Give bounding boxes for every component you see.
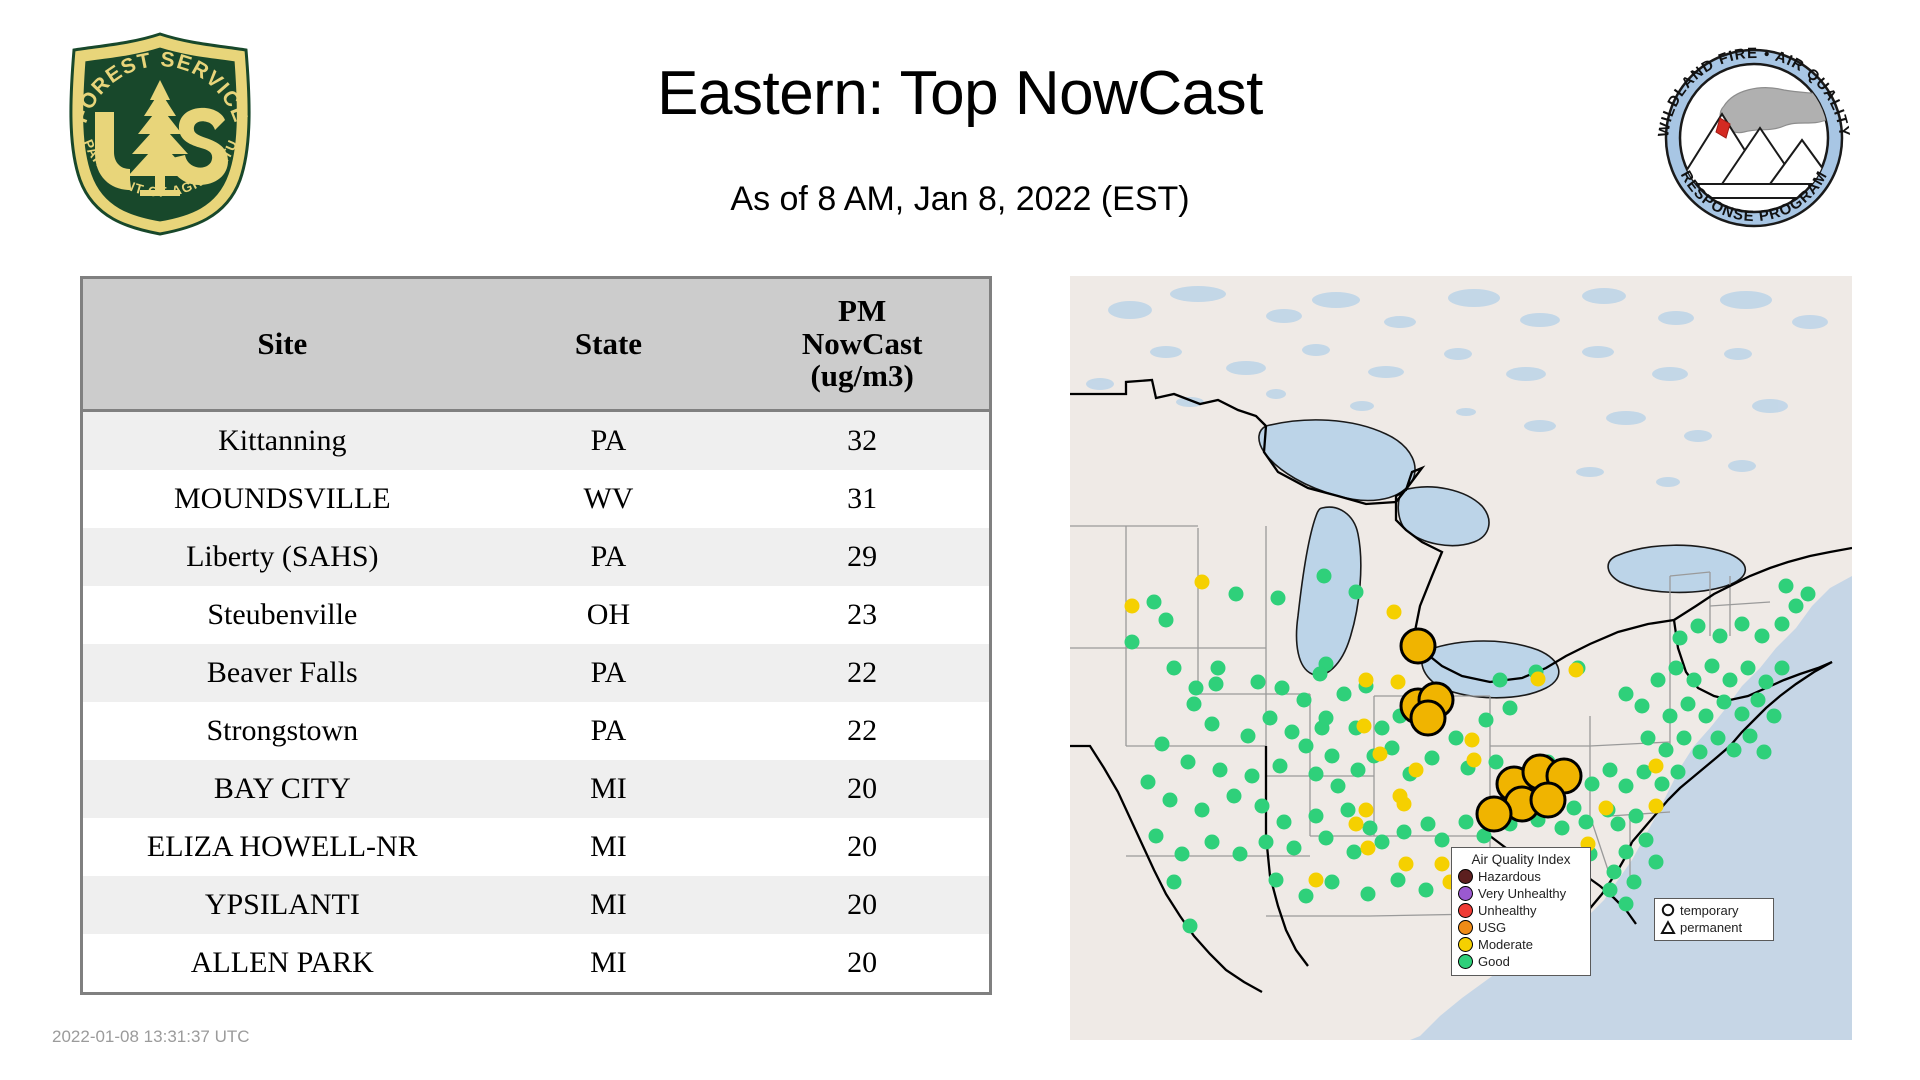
aqi-color-swatch-icon xyxy=(1458,886,1473,901)
aqi-legend: Air Quality Index HazardousVery Unhealth… xyxy=(1451,847,1591,976)
marker-legend-row-permanent: permanent xyxy=(1660,919,1768,936)
table-cell-state: PA xyxy=(482,702,736,760)
site-marker-allen-park xyxy=(1411,701,1445,735)
table-cell-pm: 32 xyxy=(735,411,989,471)
table-row[interactable]: KittanningPA32 xyxy=(83,411,989,471)
table-cell-site: Steubenville xyxy=(83,586,482,644)
aqi-color-swatch-icon xyxy=(1458,920,1473,935)
table-cell-site: MOUNDSVILLE xyxy=(83,470,482,528)
marker-legend-label-temporary: temporary xyxy=(1680,903,1739,918)
table-cell-state: OH xyxy=(482,586,736,644)
aqi-legend-label: USG xyxy=(1478,920,1506,935)
table-cell-state: MI xyxy=(482,818,736,876)
triangle-icon xyxy=(1660,920,1676,936)
aqi-legend-item: Very Unhealthy xyxy=(1458,885,1584,902)
table-cell-pm: 20 xyxy=(735,760,989,818)
table-row[interactable]: BAY CITYMI20 xyxy=(83,760,989,818)
aqi-color-swatch-icon xyxy=(1458,869,1473,884)
table-cell-pm: 29 xyxy=(735,528,989,586)
air-quality-map[interactable]: Air Quality Index HazardousVery Unhealth… xyxy=(1070,276,1852,1040)
marker-legend-label-permanent: permanent xyxy=(1680,920,1742,935)
table-row[interactable]: YPSILANTIMI20 xyxy=(83,876,989,934)
aqi-legend-rows: HazardousVery UnhealthyUnhealthyUSGModer… xyxy=(1458,868,1584,970)
table-header: Site State PM NowCast (ug/m3) xyxy=(83,279,989,411)
table-row[interactable]: Beaver FallsPA22 xyxy=(83,644,989,702)
aqi-legend-item: Hazardous xyxy=(1458,868,1584,885)
column-header-pm-line1: PM xyxy=(838,293,886,328)
table-body: KittanningPA32MOUNDSVILLEWV31Liberty (SA… xyxy=(83,411,989,993)
table-cell-pm: 20 xyxy=(735,934,989,992)
aqi-legend-item: Unhealthy xyxy=(1458,902,1584,919)
table-cell-site: Kittanning xyxy=(83,411,482,471)
table-cell-state: MI xyxy=(482,760,736,818)
table-cell-state: MI xyxy=(482,934,736,992)
table-cell-pm: 31 xyxy=(735,470,989,528)
marker-type-legend: temporary permanent xyxy=(1654,898,1774,941)
table-row[interactable]: SteubenvilleOH23 xyxy=(83,586,989,644)
page-header: FOREST SERVICE DEPARTMENT OF AGRICULTURE… xyxy=(0,0,1920,260)
table-cell-pm: 20 xyxy=(735,818,989,876)
site-marker-bay-city xyxy=(1401,629,1435,663)
table-cell-site: YPSILANTI xyxy=(83,876,482,934)
table-cell-pm: 23 xyxy=(735,586,989,644)
circle-icon xyxy=(1660,903,1676,919)
table-row[interactable]: StrongstownPA22 xyxy=(83,702,989,760)
table-cell-pm: 22 xyxy=(735,702,989,760)
table-cell-site: BAY CITY xyxy=(83,760,482,818)
aqi-legend-label: Unhealthy xyxy=(1478,903,1537,918)
top-nowcast-table: Site State PM NowCast (ug/m3) Kittanning… xyxy=(83,279,989,992)
table-cell-pm: 20 xyxy=(735,876,989,934)
wfaqrp-logo: WILDLAND FIRE • AIR QUALITY RESPONSE PRO… xyxy=(1648,32,1860,244)
table-cell-site: ELIZA HOWELL-NR xyxy=(83,818,482,876)
aqi-legend-label: Hazardous xyxy=(1478,869,1541,884)
table-cell-state: WV xyxy=(482,470,736,528)
table-cell-state: PA xyxy=(482,411,736,471)
aqi-legend-item: USG xyxy=(1458,919,1584,936)
table-cell-site: Liberty (SAHS) xyxy=(83,528,482,586)
aqi-legend-item: Moderate xyxy=(1458,936,1584,953)
aqi-legend-label: Moderate xyxy=(1478,937,1533,952)
aqi-legend-item: Good xyxy=(1458,953,1584,970)
table-cell-site: ALLEN PARK xyxy=(83,934,482,992)
table-cell-state: PA xyxy=(482,644,736,702)
column-header-state[interactable]: State xyxy=(482,279,736,411)
aqi-legend-label: Very Unhealthy xyxy=(1478,886,1566,901)
top-nowcast-table-panel: Site State PM NowCast (ug/m3) Kittanning… xyxy=(80,276,992,995)
column-header-pm-nowcast[interactable]: PM NowCast (ug/m3) xyxy=(735,279,989,411)
generation-timestamp: 2022-01-08 13:31:37 UTC xyxy=(52,1027,250,1047)
table-row[interactable]: ELIZA HOWELL-NRMI20 xyxy=(83,818,989,876)
table-cell-pm: 22 xyxy=(735,644,989,702)
table-header-row: Site State PM NowCast (ug/m3) xyxy=(83,279,989,411)
table-row[interactable]: ALLEN PARKMI20 xyxy=(83,934,989,992)
table-cell-site: Beaver Falls xyxy=(83,644,482,702)
column-header-pm-line3: (ug/m3) xyxy=(810,358,913,393)
column-header-pm-line2: NowCast xyxy=(802,326,923,361)
page-subtitle: As of 8 AM, Jan 8, 2022 (EST) xyxy=(460,180,1460,219)
column-header-site[interactable]: Site xyxy=(83,279,482,411)
table-cell-state: MI xyxy=(482,876,736,934)
table-cell-state: PA xyxy=(482,528,736,586)
aqi-legend-label: Good xyxy=(1478,954,1510,969)
table-row[interactable]: Liberty (SAHS)PA29 xyxy=(83,528,989,586)
table-cell-site: Strongstown xyxy=(83,702,482,760)
page-title: Eastern: Top NowCast xyxy=(460,58,1460,129)
table-row[interactable]: MOUNDSVILLEWV31 xyxy=(83,470,989,528)
aqi-color-swatch-icon xyxy=(1458,903,1473,918)
usda-forest-service-shield-logo: FOREST SERVICE DEPARTMENT OF AGRICULTURE xyxy=(58,28,263,238)
aqi-color-swatch-icon xyxy=(1458,937,1473,952)
aqi-legend-title: Air Quality Index xyxy=(1458,852,1584,867)
aqi-color-swatch-icon xyxy=(1458,954,1473,969)
marker-legend-row-temporary: temporary xyxy=(1660,902,1768,919)
site-marker-moundsville xyxy=(1477,797,1511,831)
site-marker-liberty-sahs xyxy=(1531,783,1565,817)
